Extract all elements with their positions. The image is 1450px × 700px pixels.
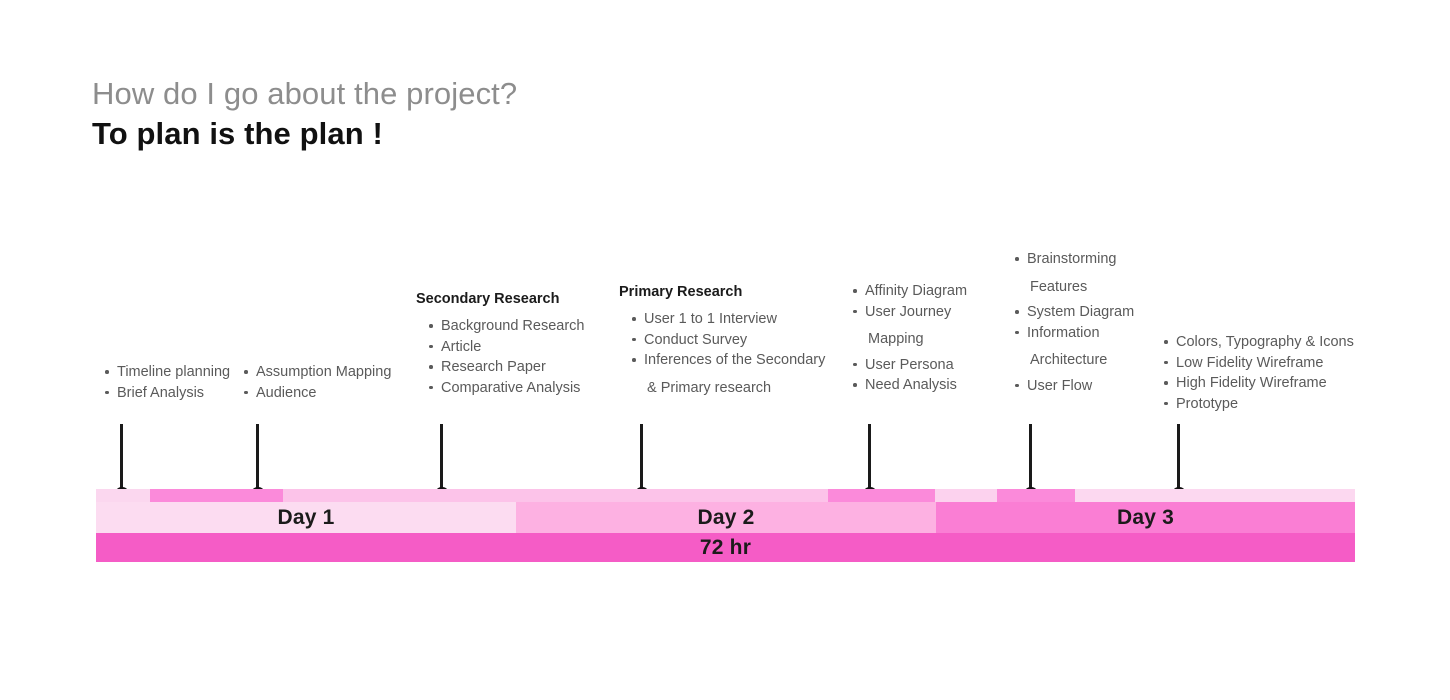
milestone-pin-timeline-planning: [120, 424, 123, 495]
milestone-pin-secondary-research: [440, 424, 443, 495]
milestone-group-secondary-research: Secondary Research Background Research A…: [416, 291, 584, 398]
list-item: Comparative Analysis: [427, 378, 584, 399]
list-item: Research Paper: [427, 357, 584, 378]
milestone-group-title: Primary Research: [619, 284, 825, 300]
list-item-continuation: & Primary research: [630, 378, 825, 399]
day-label: Day 3: [1117, 506, 1174, 530]
page-title: How do I go about the project? To plan i…: [92, 76, 517, 152]
list-item: Audience: [242, 383, 391, 404]
list-item-continuation: Architecture: [1013, 350, 1134, 371]
strip-segment-light: [96, 489, 150, 502]
list-item: Brief Analysis: [103, 383, 230, 404]
heading-question: How do I go about the project?: [92, 76, 517, 113]
list-item: Article: [427, 337, 584, 358]
milestone-item-list: User 1 to 1 Interview Conduct Survey Inf…: [630, 309, 825, 398]
strip-segment-light: [283, 489, 828, 502]
list-item: Background Research: [427, 316, 584, 337]
list-item: User Flow: [1013, 376, 1134, 397]
milestone-item-list: Background Research Article Research Pap…: [427, 316, 584, 398]
list-item: Inferences of the Secondary: [630, 350, 825, 371]
timeline-day-row: Day 1 Day 2 Day 3: [96, 502, 1355, 533]
total-duration-label: 72 hr: [700, 536, 751, 560]
heading-answer: To plan is the plan !: [92, 116, 517, 153]
list-item: Affinity Diagram: [851, 281, 967, 302]
list-item: Prototype: [1162, 394, 1354, 415]
list-item: High Fidelity Wireframe: [1162, 373, 1354, 394]
list-item-continuation: Features: [1013, 277, 1134, 298]
list-item: Low Fidelity Wireframe: [1162, 353, 1354, 374]
milestone-group-timeline-planning: Timeline planning Brief Analysis: [103, 362, 230, 403]
strip-segment-accent: [150, 489, 283, 502]
milestone-pin-assumption-mapping: [256, 424, 259, 495]
list-item: Need Analysis: [851, 375, 967, 396]
list-item: Conduct Survey: [630, 330, 825, 351]
list-item: Brainstorming: [1013, 249, 1134, 270]
milestone-item-list: Brainstorming Features System Diagram In…: [1013, 249, 1134, 396]
timeline-marker-strip: [96, 489, 1355, 502]
list-item: Assumption Mapping: [242, 362, 391, 383]
timeline-total-bar: 72 hr: [96, 533, 1355, 562]
list-item: Colors, Typography & Icons: [1162, 332, 1354, 353]
day-segment-1: Day 1: [96, 502, 516, 533]
milestone-item-list: Timeline planning Brief Analysis: [103, 362, 230, 403]
milestone-item-list: Assumption Mapping Audience: [242, 362, 391, 403]
milestone-item-list: Affinity Diagram User Journey Mapping Us…: [851, 281, 967, 396]
list-item: Information: [1013, 323, 1134, 344]
day-segment-2: Day 2: [516, 502, 936, 533]
strip-segment-accent: [997, 489, 1075, 502]
day-label: Day 1: [277, 506, 334, 530]
day-segment-3: Day 3: [936, 502, 1355, 533]
list-item: User 1 to 1 Interview: [630, 309, 825, 330]
milestone-pin-system-diagram: [1029, 424, 1032, 495]
milestone-pin-primary-research: [640, 424, 643, 495]
strip-segment-accent: [828, 489, 935, 502]
milestone-group-visual-design: Colors, Typography & Icons Low Fidelity …: [1162, 332, 1354, 414]
timeline: Day 1 Day 2 Day 3 72 hr: [96, 489, 1355, 562]
list-item: User Journey: [851, 302, 967, 323]
list-item: User Persona: [851, 355, 967, 376]
milestone-item-list: Colors, Typography & Icons Low Fidelity …: [1162, 332, 1354, 414]
list-item-continuation: Mapping: [851, 329, 967, 350]
strip-segment-light: [935, 489, 997, 502]
milestone-group-system-diagram: Brainstorming Features System Diagram In…: [1013, 249, 1134, 396]
strip-segment-light: [1075, 489, 1355, 502]
milestone-group-primary-research: Primary Research User 1 to 1 Interview C…: [619, 284, 825, 403]
list-item: System Diagram: [1013, 302, 1134, 323]
list-item: Timeline planning: [103, 362, 230, 383]
milestone-pin-affinity-diagram: [868, 424, 871, 495]
day-label: Day 2: [697, 506, 754, 530]
milestone-pin-visual-design: [1177, 424, 1180, 495]
milestone-group-title: Secondary Research: [416, 291, 584, 307]
milestone-group-assumption-mapping: Assumption Mapping Audience: [242, 362, 391, 403]
milestone-group-affinity-diagram: Affinity Diagram User Journey Mapping Us…: [851, 281, 967, 396]
